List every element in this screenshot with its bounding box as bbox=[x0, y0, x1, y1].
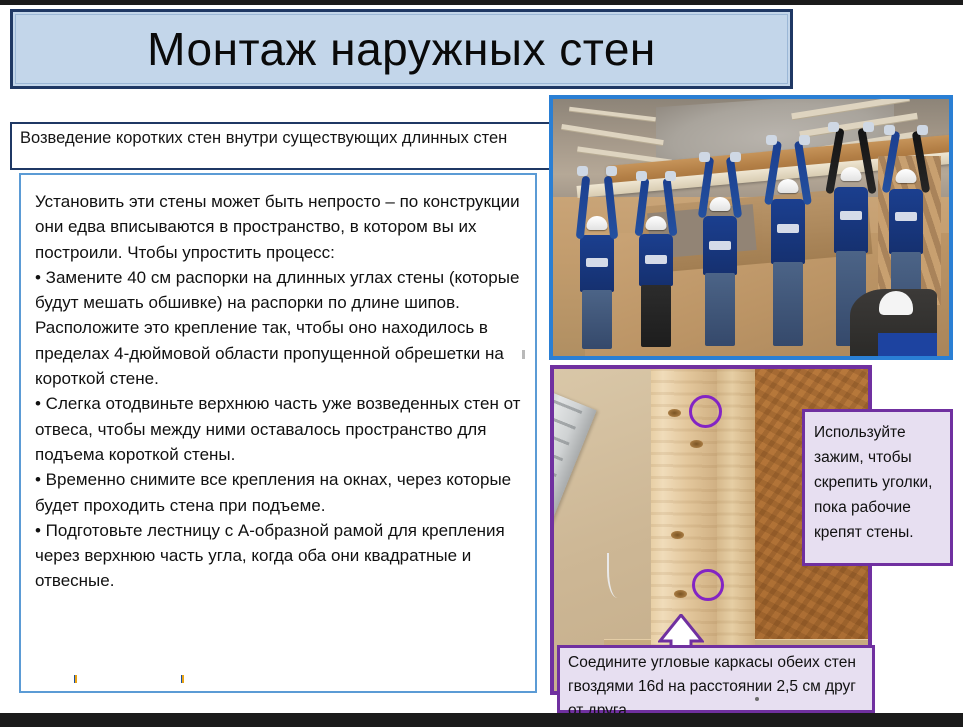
volunteer bbox=[577, 161, 617, 346]
wood-knot bbox=[671, 531, 684, 539]
compression-artifact bbox=[755, 697, 759, 701]
subtitle-box: Возведение коротких стен внутри существу… bbox=[10, 122, 580, 170]
volunteer-legs bbox=[773, 262, 803, 346]
work-glove bbox=[799, 135, 810, 145]
nail-marker-circle bbox=[689, 395, 722, 428]
work-glove bbox=[884, 125, 895, 135]
body-text-box: Установить эти стены может быть непросто… bbox=[19, 173, 537, 693]
hard-hat-icon bbox=[586, 216, 607, 230]
callout-clamp-text: Используйте зажим, чтобы скрепить уголки… bbox=[814, 420, 944, 545]
slide-title-box: Монтаж наружных стен bbox=[10, 9, 793, 89]
volunteer-arm bbox=[764, 141, 782, 206]
page-title: Монтаж наружных стен bbox=[147, 26, 656, 72]
subtitle-text: Возведение коротких стен внутри существу… bbox=[20, 127, 572, 149]
shirt-logo bbox=[895, 212, 917, 221]
wire bbox=[607, 553, 625, 598]
compression-artifact bbox=[181, 675, 184, 683]
volunteer-shirt bbox=[771, 199, 805, 263]
callout-nails: Соедините угловые каркасы обеих стен гво… bbox=[557, 645, 875, 713]
shirt-logo bbox=[777, 224, 799, 233]
hard-hat-icon bbox=[646, 216, 667, 230]
slide-canvas: Монтаж наружных стен Установить эти стен… bbox=[0, 0, 963, 727]
volunteer bbox=[636, 171, 676, 346]
wood-grain bbox=[717, 369, 755, 652]
volunteer bbox=[700, 156, 740, 346]
hard-hat-icon bbox=[777, 179, 798, 193]
volunteer-shirt bbox=[580, 235, 614, 292]
nail-marker-circle bbox=[692, 569, 724, 601]
work-glove bbox=[699, 152, 710, 162]
seated-worker-shirt bbox=[878, 333, 937, 356]
work-glove bbox=[636, 171, 647, 181]
hard-hat-icon bbox=[841, 167, 862, 181]
work-glove bbox=[577, 166, 588, 176]
work-glove bbox=[665, 171, 676, 181]
volunteer-shirt bbox=[639, 234, 673, 286]
shirt-logo bbox=[709, 241, 731, 250]
shirt-logo bbox=[645, 255, 667, 264]
compression-artifact bbox=[74, 675, 77, 683]
wood-knot bbox=[690, 440, 703, 448]
volunteer-shirt bbox=[889, 189, 923, 253]
hard-hat-icon bbox=[895, 169, 916, 183]
top-edge-strip bbox=[0, 0, 963, 5]
callout-clamp: Используйте зажим, чтобы скрепить уголки… bbox=[802, 409, 953, 566]
volunteer-shirt bbox=[834, 187, 868, 253]
volunteer-legs bbox=[705, 273, 735, 345]
work-glove bbox=[828, 122, 839, 132]
shirt-logo bbox=[840, 211, 862, 220]
volunteer-legs bbox=[641, 285, 671, 348]
body-paragraph: Установить эти стены может быть непросто… bbox=[35, 189, 525, 594]
photo-wall-raising bbox=[549, 95, 953, 360]
work-glove bbox=[863, 122, 874, 132]
work-glove bbox=[917, 125, 928, 135]
work-glove bbox=[606, 166, 617, 176]
work-glove bbox=[730, 152, 741, 162]
volunteer-legs bbox=[582, 290, 612, 349]
shirt-logo bbox=[586, 258, 608, 267]
work-glove bbox=[766, 135, 777, 145]
compression-artifact bbox=[522, 350, 525, 359]
corner-post-right bbox=[717, 369, 755, 652]
bottom-edge-strip bbox=[0, 713, 963, 727]
wood-knot bbox=[668, 409, 681, 417]
wood-knot bbox=[674, 590, 687, 598]
volunteer bbox=[767, 145, 809, 345]
hard-hat-icon bbox=[709, 197, 730, 211]
volunteer-shirt bbox=[703, 216, 737, 275]
